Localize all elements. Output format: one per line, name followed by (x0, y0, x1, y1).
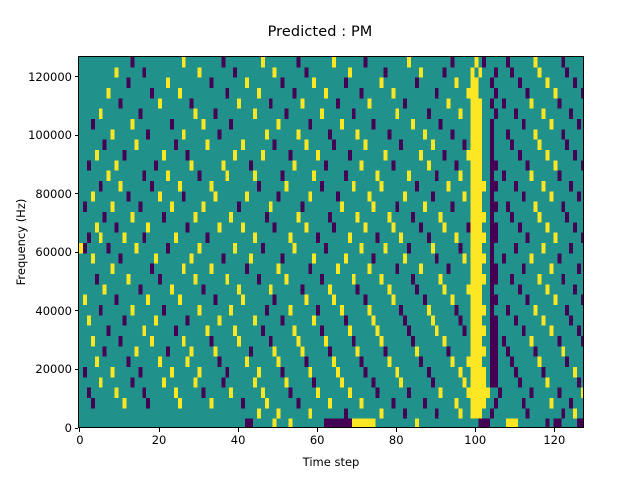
figure-canvas: Predicted : PM Frequency (Hz) 0200004000… (0, 0, 640, 480)
heatmap-image (79, 57, 584, 428)
y-tick-label: 20000 (35, 362, 72, 376)
x-tick-label: 80 (376, 433, 416, 447)
x-tick-mark (396, 428, 397, 432)
y-tick-label: 120000 (28, 70, 72, 84)
page-title: Predicted : PM (0, 24, 640, 40)
x-tick-label: 40 (218, 433, 258, 447)
x-tick-mark (317, 428, 318, 432)
x-tick-mark (554, 428, 555, 432)
y-tick-label: 80000 (35, 187, 72, 201)
x-tick-mark (159, 428, 160, 432)
x-tick-mark (238, 428, 239, 432)
x-tick-label: 100 (455, 433, 495, 447)
x-tick-mark (475, 428, 476, 432)
y-tick-label: 60000 (35, 245, 72, 259)
x-tick-label: 0 (60, 433, 100, 447)
x-tick-label: 60 (297, 433, 337, 447)
heatmap-plot-area (78, 56, 584, 428)
y-tick-label: 100000 (28, 128, 72, 142)
x-axis-label: Time step (78, 455, 584, 469)
x-tick-mark (79, 428, 80, 432)
y-axis-label: Frequency (Hz) (14, 56, 30, 428)
x-tick-label: 120 (534, 433, 574, 447)
y-tick-label: 40000 (35, 304, 72, 318)
x-tick-label: 20 (139, 433, 179, 447)
